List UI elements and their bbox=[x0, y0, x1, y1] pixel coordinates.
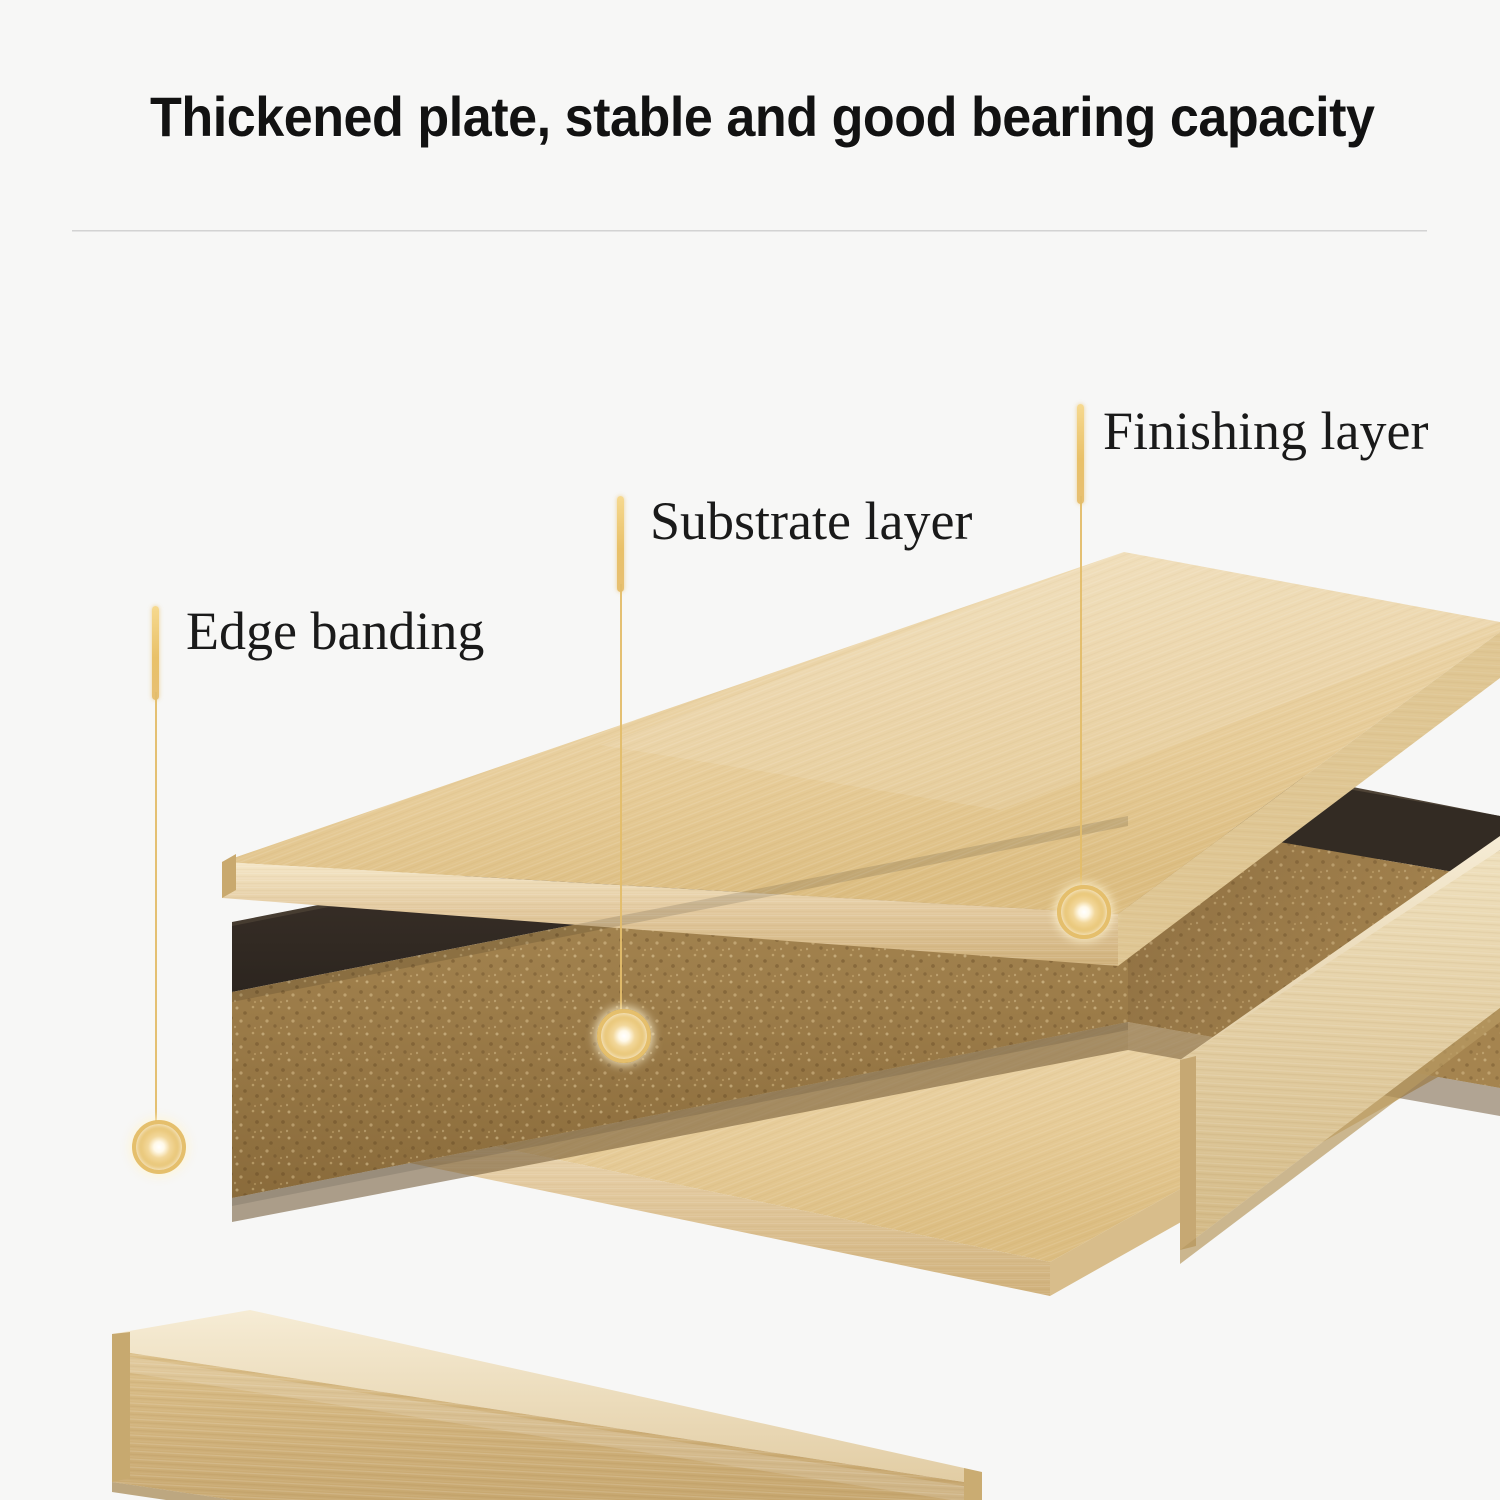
callout-marker-dot[interactable] bbox=[132, 1120, 186, 1174]
callout-marker-dot[interactable] bbox=[597, 1009, 651, 1063]
callout-marker-dot[interactable] bbox=[1057, 885, 1111, 939]
product-feature-image: Thickened plate, stable and good bearing… bbox=[0, 0, 1500, 1500]
callout-label-finishing-layer: Finishing layer bbox=[1103, 400, 1428, 462]
page-title: Thickened plate, stable and good bearing… bbox=[150, 82, 1322, 152]
callout-line-cap bbox=[152, 606, 159, 700]
callout-line-cap bbox=[617, 496, 624, 592]
callout-leader-line bbox=[620, 584, 622, 1032]
callout-line-cap bbox=[1077, 404, 1084, 504]
callout-label-edge-banding: Edge banding bbox=[186, 600, 484, 662]
header-divider bbox=[72, 230, 1427, 232]
callout-leader-line bbox=[1080, 496, 1082, 908]
callout-label-substrate-layer: Substrate layer bbox=[650, 490, 972, 552]
exploded-panel-illustration: Finishing layer Substrate layer Edge ban… bbox=[0, 250, 1500, 1500]
callout-leader-line bbox=[155, 692, 157, 1143]
layer-edge-banding-strip bbox=[112, 1310, 982, 1500]
